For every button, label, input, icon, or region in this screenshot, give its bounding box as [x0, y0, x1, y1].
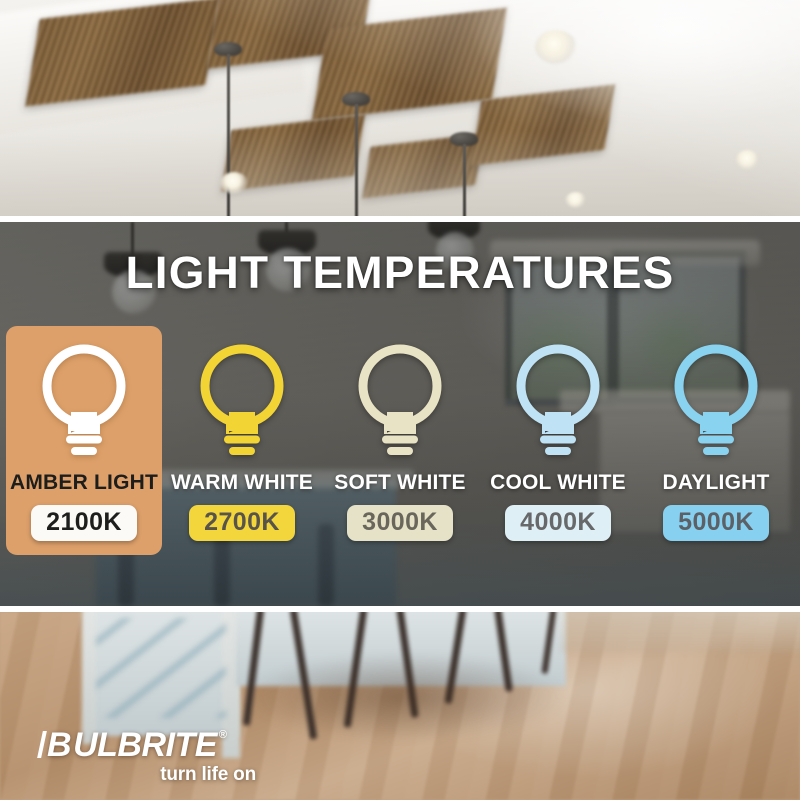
kelvin-badge: 5000K [663, 505, 769, 541]
temperature-column-amber-light[interactable]: AMBER LIGHT 2100K [6, 326, 162, 555]
pendant-rod [355, 104, 358, 216]
lightbulb-icon [188, 338, 296, 463]
registered-trademark-mark: ® [219, 730, 227, 741]
temperature-label: AMBER LIGHT [6, 471, 162, 495]
lightbulb-icon [30, 338, 138, 463]
ceiling-light-wash [0, 0, 800, 216]
cabinet-toe-kick [560, 612, 800, 652]
recessed-can-light [220, 172, 248, 194]
ceiling-photo-band [0, 0, 800, 216]
island-trim [82, 612, 96, 744]
logo-b-letter: B [40, 728, 71, 762]
logo-tagline: turn life on [40, 765, 260, 784]
logo-wordmark-rest: ULBRITE [73, 728, 217, 762]
pendant-rod [463, 144, 466, 216]
bulb-icon-wrap [480, 335, 636, 465]
temperature-column-daylight[interactable]: DAYLIGHT 5000K [638, 326, 794, 555]
light-temperature-panel: LIGHT TEMPERATURES AMBER LIGHT 2100K [0, 222, 800, 606]
kelvin-badge: 2100K [31, 505, 137, 541]
recessed-can-light [565, 192, 587, 208]
recessed-can-light [535, 30, 577, 64]
kelvin-badge: 3000K [347, 505, 453, 541]
page-title: LIGHT TEMPERATURES [0, 250, 800, 295]
lightbulb-icon [346, 338, 454, 463]
temperature-label: DAYLIGHT [638, 471, 794, 495]
temperature-label: COOL WHITE [480, 471, 636, 495]
bulb-icon-wrap [164, 335, 320, 465]
kelvin-badge: 2700K [189, 505, 295, 541]
logo-wordmark: B ULBRITE ® [40, 728, 260, 762]
temperature-label: SOFT WHITE [322, 471, 478, 495]
bulb-icon-wrap [6, 335, 162, 465]
temperature-label: WARM WHITE [164, 471, 320, 495]
bulb-icon-wrap [322, 335, 478, 465]
island-x-brace [96, 618, 226, 718]
temperature-columns: AMBER LIGHT 2100K WARM WHITE 2700K [0, 326, 800, 588]
temperature-column-warm-white[interactable]: WARM WHITE 2700K [164, 326, 320, 555]
lightbulb-icon [504, 338, 612, 463]
bulb-icon-wrap [638, 335, 794, 465]
temperature-column-soft-white[interactable]: SOFT WHITE 3000K [322, 326, 478, 555]
lightbulb-icon [662, 338, 770, 463]
kelvin-badge: 4000K [505, 505, 611, 541]
floor-shadow [240, 652, 570, 742]
infographic-canvas: LIGHT TEMPERATURES AMBER LIGHT 2100K [0, 0, 800, 800]
recessed-can-light [735, 150, 761, 170]
temperature-column-cool-white[interactable]: COOL WHITE 4000K [480, 326, 636, 555]
bulbrite-logo: B ULBRITE ® turn life on [40, 728, 260, 784]
